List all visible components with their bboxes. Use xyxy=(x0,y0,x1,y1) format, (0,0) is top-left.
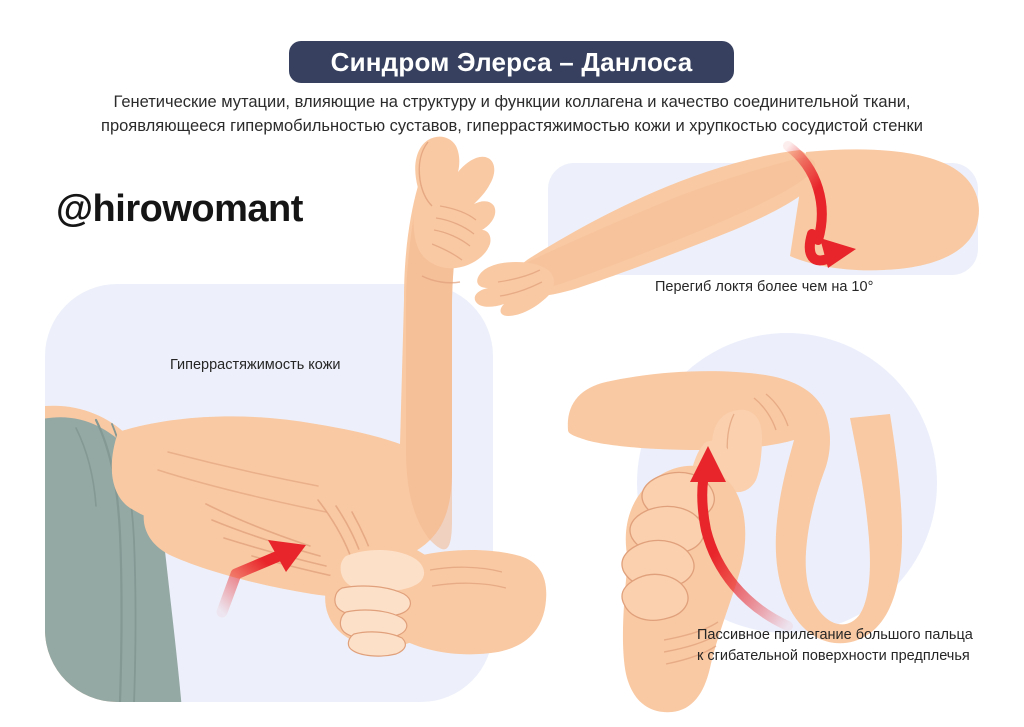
elbow-panel-background xyxy=(548,163,978,275)
hand-knuckle-lines xyxy=(432,206,476,260)
elbow-hand-crease-lines xyxy=(498,270,542,296)
thumb-panel-caption-line-2: к сгибательной поверхности предплечья xyxy=(697,646,970,667)
page-title: Синдром Элерса – Данлоса xyxy=(331,47,693,78)
subtitle-line-2: проявляющееся гипермобильностью суставов… xyxy=(62,114,962,138)
infographic-canvas: Синдром Элерса – Данлоса Генетические му… xyxy=(0,0,1024,727)
title-badge: Синдром Элерса – Данлоса xyxy=(289,41,734,83)
elbow-panel-caption: Перегиб локтя более чем на 10° xyxy=(655,277,873,298)
relaxed-hand-top xyxy=(414,137,496,283)
wrist-crease xyxy=(422,276,460,283)
hand-elbow-panel xyxy=(475,262,554,316)
index-finger-line xyxy=(419,142,432,206)
thumb-panel-caption-line-1: Пассивное прилегание большого пальца xyxy=(697,625,973,646)
thumb-panel-background xyxy=(637,333,937,633)
subtitle: Генетические мутации, влияющие на структ… xyxy=(62,90,962,138)
subtitle-line-1: Генетические мутации, влияющие на структ… xyxy=(62,90,962,114)
skin-panel-background xyxy=(45,284,493,702)
skin-panel-caption: Гиперрастяжимость кожи xyxy=(170,355,341,376)
watermark-handle: @hirowomant xyxy=(56,188,303,231)
hand-shape xyxy=(414,137,496,269)
